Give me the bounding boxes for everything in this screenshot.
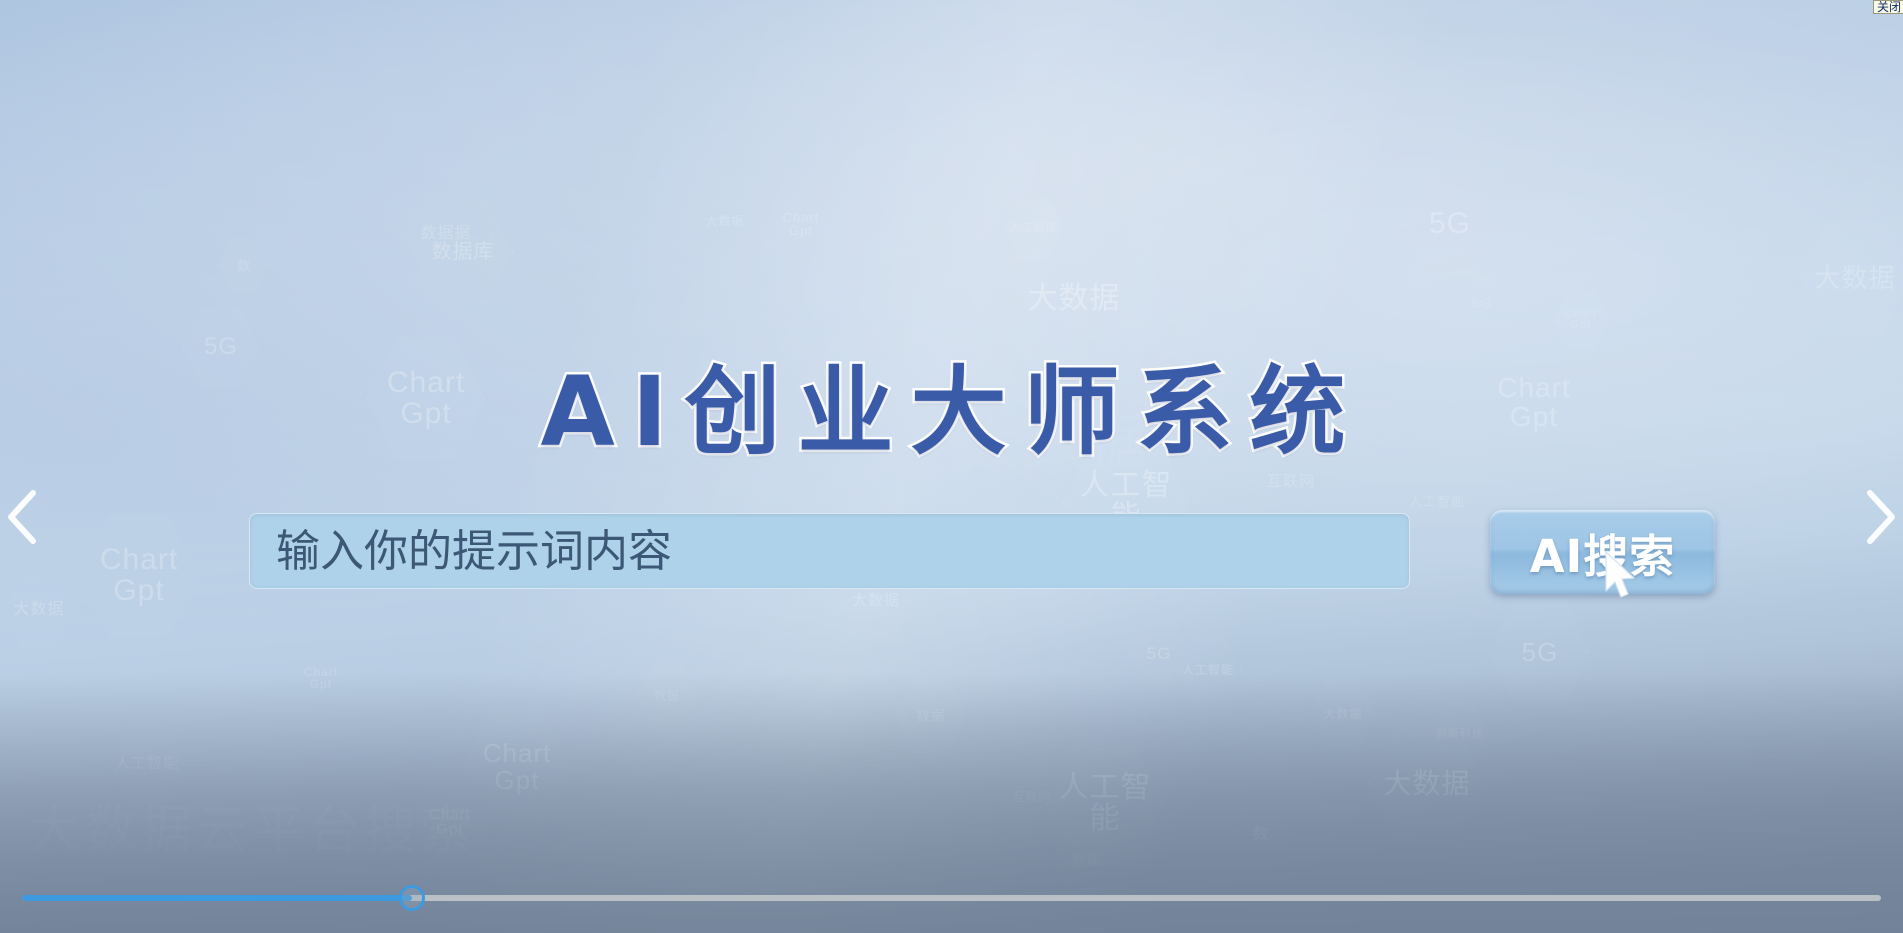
chevron-left-icon bbox=[1, 485, 51, 549]
carousel-next-button[interactable] bbox=[1852, 485, 1902, 549]
top-right-chrome: 关闭 bbox=[1773, 0, 1903, 14]
carousel-prev-button[interactable] bbox=[1, 485, 51, 549]
close-tooltip: 关闭 bbox=[1873, 0, 1903, 14]
slider-handle[interactable] bbox=[399, 885, 425, 911]
prompt-search-input[interactable] bbox=[249, 513, 1410, 589]
chevron-right-icon bbox=[1852, 485, 1902, 549]
red-indicator-box[interactable] bbox=[1847, 0, 1873, 14]
bottom-progress-slider[interactable] bbox=[22, 885, 1881, 911]
ai-search-button[interactable]: AI搜索 bbox=[1490, 510, 1715, 594]
page-title: AI创业大师系统 bbox=[0, 334, 1903, 473]
slider-fill bbox=[22, 895, 412, 901]
blue-progress-bar bbox=[1773, 0, 1847, 14]
app-root: 数据据数据库数5G大数据Chart Gpt人工智能大数据5G大数据5GChart… bbox=[0, 0, 1903, 933]
